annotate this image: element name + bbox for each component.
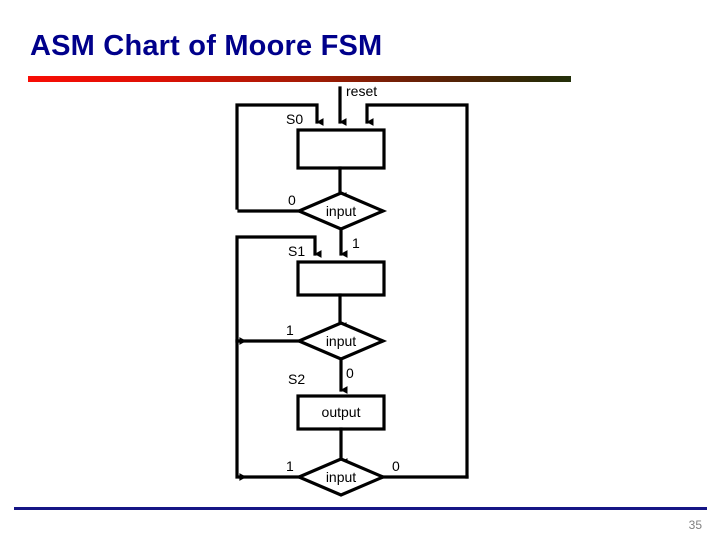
- label-decision1-input: input: [299, 204, 383, 218]
- label-decision1-zero: 0: [288, 193, 296, 207]
- label-reset: reset: [346, 84, 377, 98]
- label-state-s1: S1: [288, 244, 305, 258]
- state-box-s0: [298, 130, 384, 168]
- label-decision1-one: 1: [352, 236, 360, 250]
- label-decision2-one: 1: [286, 323, 294, 337]
- label-state-s2: S2: [288, 372, 305, 386]
- state-box-s1: [298, 262, 384, 295]
- label-decision3-zero: 0: [392, 459, 400, 473]
- label-decision2-zero: 0: [346, 366, 354, 380]
- slide-canvas: ASM Chart of Moore FSM: [0, 0, 720, 540]
- asm-chart-diagram: reset S0 0 input 1 S1 1 input 0 S2 outpu…: [0, 0, 720, 540]
- page-number: 35: [689, 518, 702, 532]
- label-state-s0: S0: [286, 112, 303, 126]
- label-decision3-input: input: [299, 470, 383, 484]
- asm-chart-svg: [0, 0, 720, 540]
- footer-divider: [14, 507, 707, 510]
- label-decision3-one: 1: [286, 459, 294, 473]
- label-s2-output: output: [298, 405, 384, 419]
- label-decision2-input: input: [299, 334, 383, 348]
